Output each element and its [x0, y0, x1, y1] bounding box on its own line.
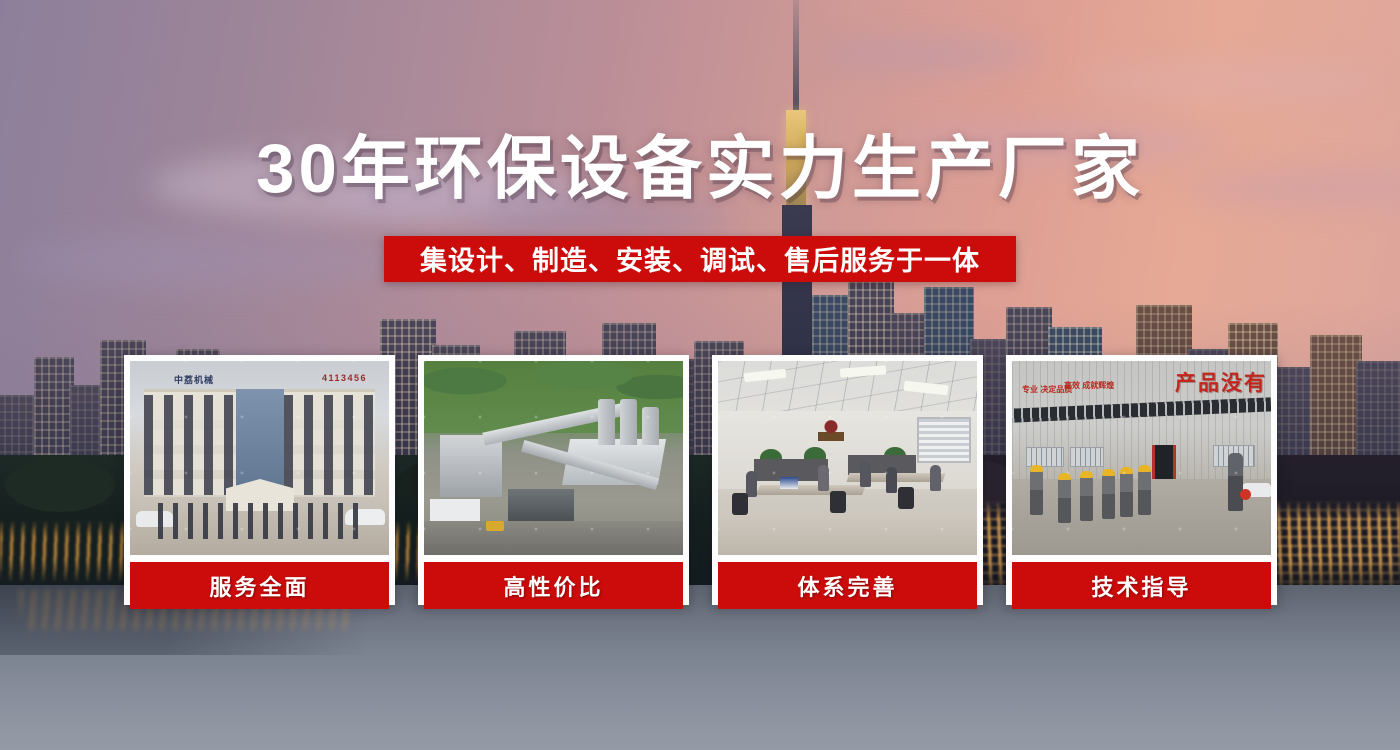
card-photo-office-interior	[718, 361, 977, 555]
tower-spire	[793, 0, 799, 120]
card-label: 服务全面	[130, 562, 389, 609]
building-sign-text: 中荔机械	[174, 373, 214, 386]
feature-card[interactable]: 产品没有 专业 决定品质 高效 成就辉煌 技术指导	[1006, 355, 1277, 605]
card-photo-industrial-plant	[424, 361, 683, 555]
subtitle-bar-wrapper: 集设计、制造、安装、调试、售后服务于一体	[0, 236, 1400, 282]
page-title: 30年环保设备实力生产厂家	[0, 134, 1400, 203]
card-photo-office-building: 中荔机械 4113456	[130, 361, 389, 555]
factory-wall-headline: 产品没有	[1175, 367, 1267, 397]
feature-card[interactable]: 中荔机械 4113456 服务全面	[124, 355, 395, 605]
factory-wall-slogan-2: 高效 成就辉煌	[1064, 381, 1114, 391]
feature-card[interactable]: 体系完善	[712, 355, 983, 605]
feature-card-row: 中荔机械 4113456 服务全面 高性价比	[124, 355, 1277, 605]
banner-stage: 30年环保设备实力生产厂家 集设计、制造、安装、调试、售后服务于一体 中荔机械 …	[0, 0, 1400, 750]
feature-card[interactable]: 高性价比	[418, 355, 689, 605]
building-phone-number: 4113456	[322, 373, 367, 383]
card-label: 高性价比	[424, 562, 683, 609]
card-label: 体系完善	[718, 562, 977, 609]
card-photo-factory-briefing: 产品没有 专业 决定品质 高效 成就辉煌	[1012, 361, 1271, 555]
card-label: 技术指导	[1012, 562, 1271, 609]
subtitle-banner: 集设计、制造、安装、调试、售后服务于一体	[384, 236, 1016, 282]
